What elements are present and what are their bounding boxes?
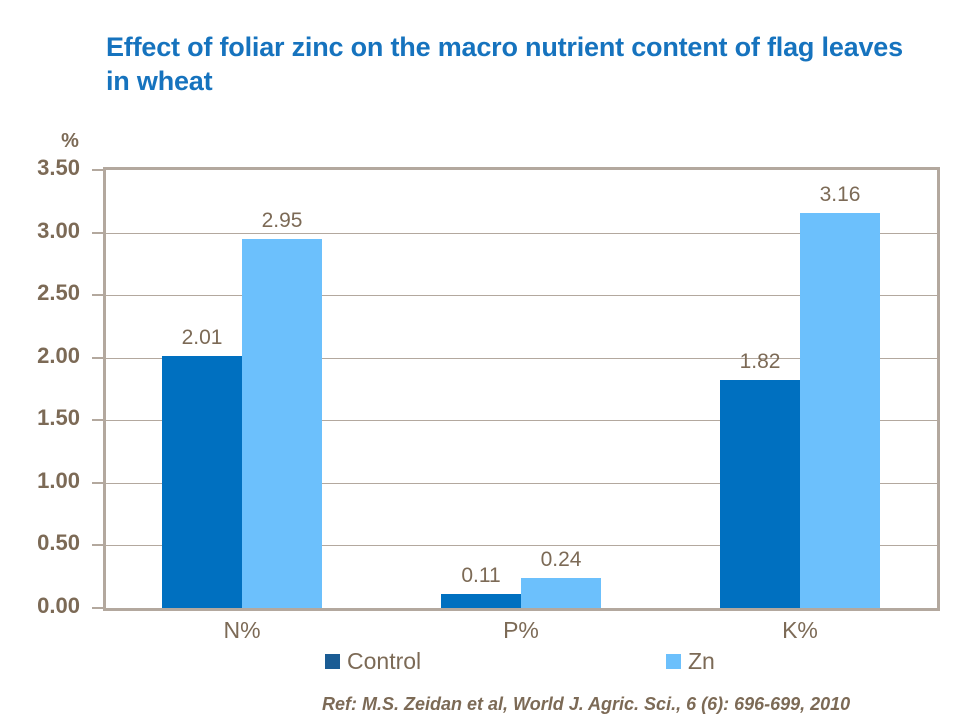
y-axis-tick-mark [92,544,103,546]
bar-n-zn[interactable] [242,239,322,608]
bar-p-control[interactable] [441,594,521,608]
y-axis-tick-mark [92,232,103,234]
y-axis-tick-label: 0.00 [0,593,80,619]
plot-area [103,167,940,611]
y-axis-tick-label: 0.50 [0,530,80,556]
bar-value-label: 2.01 [152,326,252,350]
x-axis-label-n: N% [152,617,332,644]
legend-item-zn[interactable]: Zn [666,648,715,675]
page-title: Effect of foliar zinc on the macro nutri… [106,30,906,98]
chart-legend: Control Zn [0,648,960,678]
bar-value-label: 0.24 [511,548,611,572]
y-axis-tick-label: 1.50 [0,405,80,431]
bar-value-label: 2.95 [232,209,332,233]
x-axis-label-p: P% [431,617,611,644]
y-axis-tick-label: 3.00 [0,218,80,244]
y-axis-tick-label: 3.50 [0,155,80,181]
y-axis-tick-mark [92,294,103,296]
legend-swatch-zn-icon [666,654,681,669]
y-axis-tick-mark [92,482,103,484]
y-axis-tick-mark [92,607,103,609]
bar-value-label: 3.16 [790,183,890,207]
legend-swatch-control-icon [325,654,340,669]
y-axis-tick-mark [92,169,103,171]
y-axis-tick-mark [92,357,103,359]
bar-n-control[interactable] [162,356,242,608]
bar-p-zn[interactable] [521,578,601,608]
x-axis-label-k: K% [710,617,890,644]
y-axis-tick-label: 1.00 [0,468,80,494]
bar-k-control[interactable] [720,380,800,608]
legend-label-control: Control [347,648,421,675]
reference-citation: Ref: M.S. Zeidan et al, World J. Agric. … [322,694,850,715]
legend-item-control[interactable]: Control [325,648,421,675]
bar-k-zn[interactable] [800,213,880,608]
y-axis-unit-label: % [50,130,90,153]
y-axis-tick-label: 2.00 [0,343,80,369]
y-axis-tick-label: 2.50 [0,280,80,306]
bar-value-label: 1.82 [710,350,810,374]
y-axis-tick-mark [92,419,103,421]
legend-label-zn: Zn [688,648,715,675]
